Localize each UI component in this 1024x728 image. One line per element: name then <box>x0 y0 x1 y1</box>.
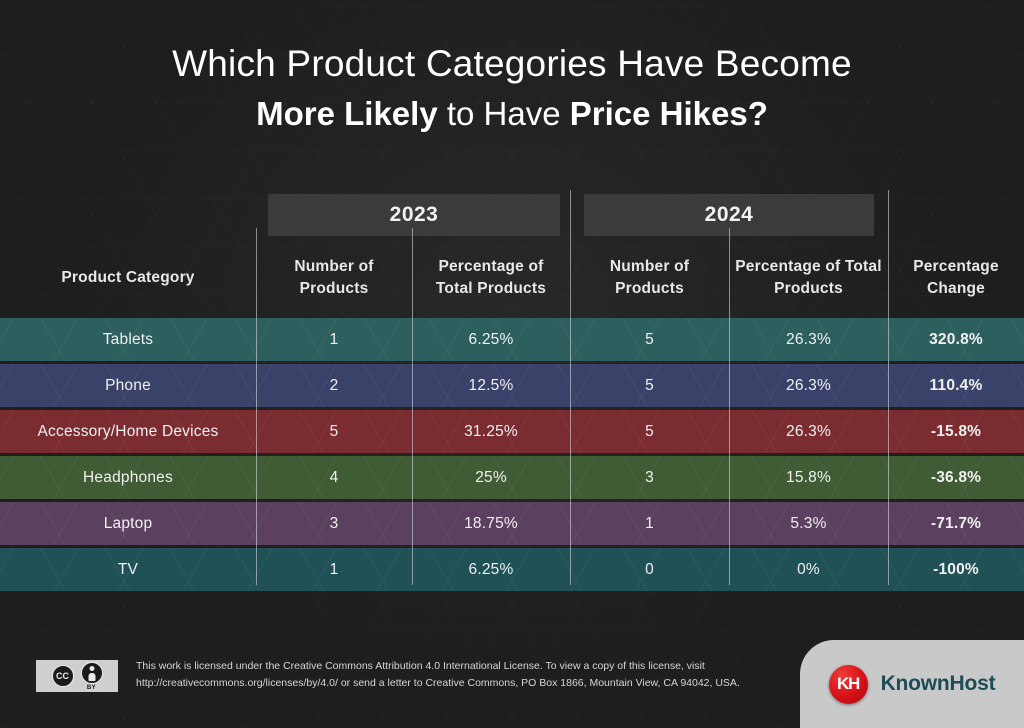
table-row: Accessory/Home Devices531.25%526.3%-15.8… <box>0 410 1024 453</box>
table-row: TV16.25%00%-100% <box>0 548 1024 591</box>
title-line-2: More Likely to Have Price Hikes? <box>0 90 1024 138</box>
license-text: This work is licensed under the Creative… <box>136 658 736 692</box>
title-emphasis-price-hikes: Price Hikes? <box>570 95 768 132</box>
cell-pct_2023: 25% <box>412 456 570 499</box>
cc-by-label: BY <box>87 685 96 691</box>
table-row: Laptop318.75%15.3%-71.7% <box>0 502 1024 545</box>
column-divider-2 <box>412 228 413 585</box>
cc-by-icon: BY <box>81 662 103 691</box>
brand-logo-panel: KH KnownHost <box>800 640 1024 728</box>
group-header-2023: 2023 <box>268 194 560 236</box>
column-header-percentage-total-2024: Percentage of Total Products <box>729 238 888 318</box>
cell-category: Laptop <box>0 502 256 545</box>
cell-num_2023: 1 <box>256 318 412 361</box>
cell-pct_2023: 6.25% <box>412 318 570 361</box>
cell-pct_2024: 26.3% <box>729 410 888 453</box>
cell-pct_change: 320.8% <box>888 318 1024 361</box>
cell-num_2024: 0 <box>570 548 729 591</box>
cell-pct_2023: 6.25% <box>412 548 570 591</box>
column-divider-1 <box>256 228 257 585</box>
cell-pct_change: -71.7% <box>888 502 1024 545</box>
column-divider-4 <box>729 228 730 585</box>
creative-commons-badge-icon: CC BY <box>36 660 118 692</box>
column-header-row: Product Category Number of Products Perc… <box>0 238 1024 318</box>
cell-num_2024: 5 <box>570 318 729 361</box>
cell-num_2024: 5 <box>570 410 729 453</box>
cell-category: Tablets <box>0 318 256 361</box>
table-row: Tablets16.25%526.3%320.8% <box>0 318 1024 361</box>
knownhost-logo-icon: KH <box>829 665 868 704</box>
cell-pct_2024: 15.8% <box>729 456 888 499</box>
column-header-number-products-2023: Number of Products <box>256 238 412 318</box>
column-header-percentage-change: Percentage Change <box>888 238 1024 318</box>
cell-num_2024: 5 <box>570 364 729 407</box>
cell-num_2023: 1 <box>256 548 412 591</box>
cell-pct_2024: 26.3% <box>729 318 888 361</box>
cell-num_2023: 5 <box>256 410 412 453</box>
cell-num_2024: 3 <box>570 456 729 499</box>
cell-pct_2024: 5.3% <box>729 502 888 545</box>
cell-num_2023: 4 <box>256 456 412 499</box>
column-header-percentage-total-2023: Percentage of Total Products <box>412 238 570 318</box>
footer: CC BY This work is licensed under the Cr… <box>0 642 1024 728</box>
license-line-2: http://creativecommons.org/licenses/by/4… <box>136 675 736 692</box>
cell-pct_change: -36.8% <box>888 456 1024 499</box>
column-header-product-category: Product Category <box>0 238 256 318</box>
group-header-row: 2023 2024 <box>0 190 1024 238</box>
cell-category: TV <box>0 548 256 591</box>
title-line-1: Which Product Categories Have Become <box>0 40 1024 88</box>
cell-num_2023: 2 <box>256 364 412 407</box>
table-row: Headphones425%315.8%-36.8% <box>0 456 1024 499</box>
cell-category: Headphones <box>0 456 256 499</box>
cell-category: Phone <box>0 364 256 407</box>
cell-pct_2024: 0% <box>729 548 888 591</box>
cell-category: Accessory/Home Devices <box>0 410 256 453</box>
page-title: Which Product Categories Have Become Mor… <box>0 40 1024 138</box>
title-emphasis-more-likely: More Likely <box>256 95 438 132</box>
infographic-canvas: Which Product Categories Have Become Mor… <box>0 0 1024 728</box>
brand-name: KnownHost <box>881 672 996 696</box>
cell-pct_change: -100% <box>888 548 1024 591</box>
title-connector: to Have <box>438 95 570 132</box>
data-table: 2023 2024 Product Category Number of Pro… <box>0 190 1024 594</box>
cell-pct_2023: 12.5% <box>412 364 570 407</box>
person-icon <box>81 662 103 684</box>
cell-pct_2023: 31.25% <box>412 410 570 453</box>
cell-pct_2023: 18.75% <box>412 502 570 545</box>
column-header-number-products-2024: Number of Products <box>570 238 729 318</box>
cell-num_2024: 1 <box>570 502 729 545</box>
cell-pct_2024: 26.3% <box>729 364 888 407</box>
cc-icon: CC <box>52 665 74 687</box>
table-row: Phone212.5%526.3%110.4% <box>0 364 1024 407</box>
cell-pct_change: 110.4% <box>888 364 1024 407</box>
column-divider-5 <box>888 190 889 585</box>
cell-num_2023: 3 <box>256 502 412 545</box>
license-line-1: This work is licensed under the Creative… <box>136 658 736 675</box>
cell-pct_change: -15.8% <box>888 410 1024 453</box>
table-body: Tablets16.25%526.3%320.8%Phone212.5%526.… <box>0 318 1024 591</box>
column-divider-3 <box>570 190 571 585</box>
